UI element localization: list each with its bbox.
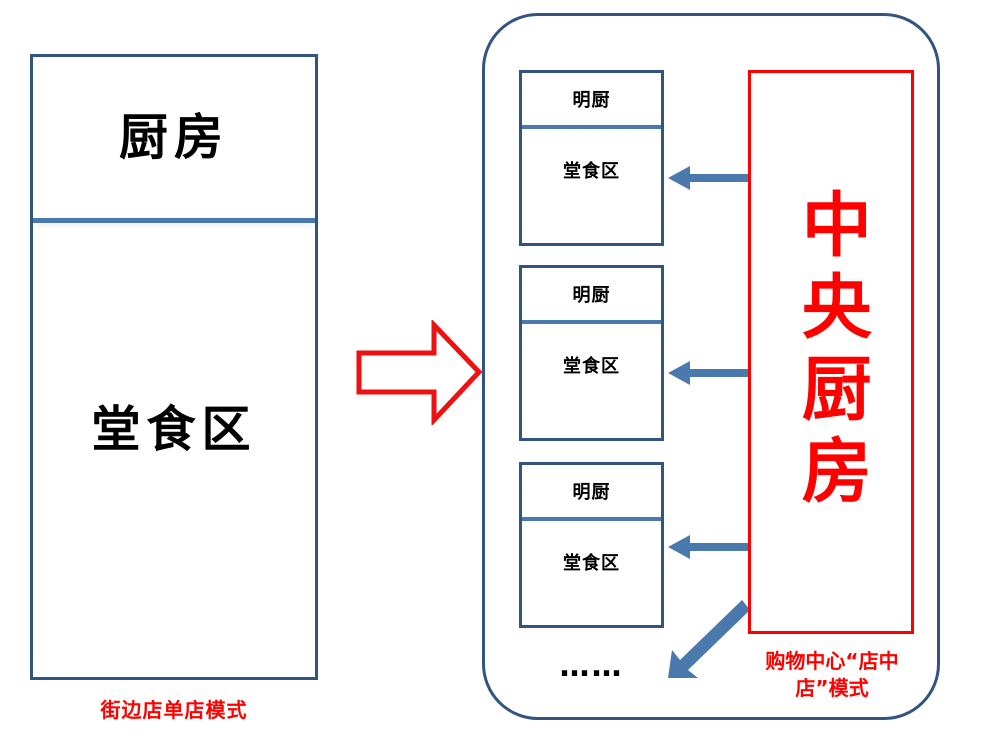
mall-store-3-kitchen-section: 明厨	[522, 465, 661, 517]
mall-store-box-2: 明厨 堂食区	[519, 265, 664, 441]
arrow-left-icon	[668, 532, 750, 562]
ellipsis-more-stores: ……	[519, 652, 664, 682]
arrow-down-left-icon	[664, 596, 756, 682]
street-store-caption: 街边店单店模式	[30, 694, 318, 723]
mall-store-3-dining-label: 堂食区	[563, 549, 620, 575]
central-kitchen-label: 中央厨房	[785, 188, 877, 516]
mall-model-caption: 购物中心“店中店”模式	[744, 648, 920, 702]
arrow-left-icon	[668, 358, 750, 388]
street-store-dining-section: 堂食区	[33, 223, 315, 677]
mall-store-2-kitchen-section: 明厨	[522, 268, 661, 320]
central-kitchen-box: 中央厨房	[748, 70, 914, 634]
mall-store-2-kitchen-label: 明厨	[573, 281, 611, 307]
mall-store-1-kitchen-label: 明厨	[573, 86, 611, 112]
mall-store-2-dining-section: 堂食区	[522, 324, 661, 469]
street-store-dining-label: 堂食区	[91, 405, 256, 454]
mall-store-1-kitchen-section: 明厨	[522, 73, 661, 125]
street-store-box: 厨房 堂食区	[30, 54, 318, 680]
diagram-canvas: 厨房 堂食区 街边店单店模式 明厨 堂食区 明厨 堂食区 明厨	[0, 0, 984, 737]
mall-store-1-dining-section: 堂食区	[522, 129, 661, 274]
mall-store-2-dining-label: 堂食区	[563, 352, 620, 378]
arrow-left-icon	[668, 163, 750, 193]
mall-store-1-dining-label: 堂食区	[563, 157, 620, 183]
mall-store-3-dining-section: 堂食区	[522, 521, 661, 656]
block-arrow-right-icon	[356, 320, 482, 425]
mall-store-3-kitchen-label: 明厨	[573, 478, 611, 504]
street-store-kitchen-section: 厨房	[33, 57, 315, 218]
mall-store-box-3: 明厨 堂食区	[519, 462, 664, 628]
mall-store-box-1: 明厨 堂食区	[519, 70, 664, 246]
street-store-kitchen-label: 厨房	[119, 113, 229, 162]
